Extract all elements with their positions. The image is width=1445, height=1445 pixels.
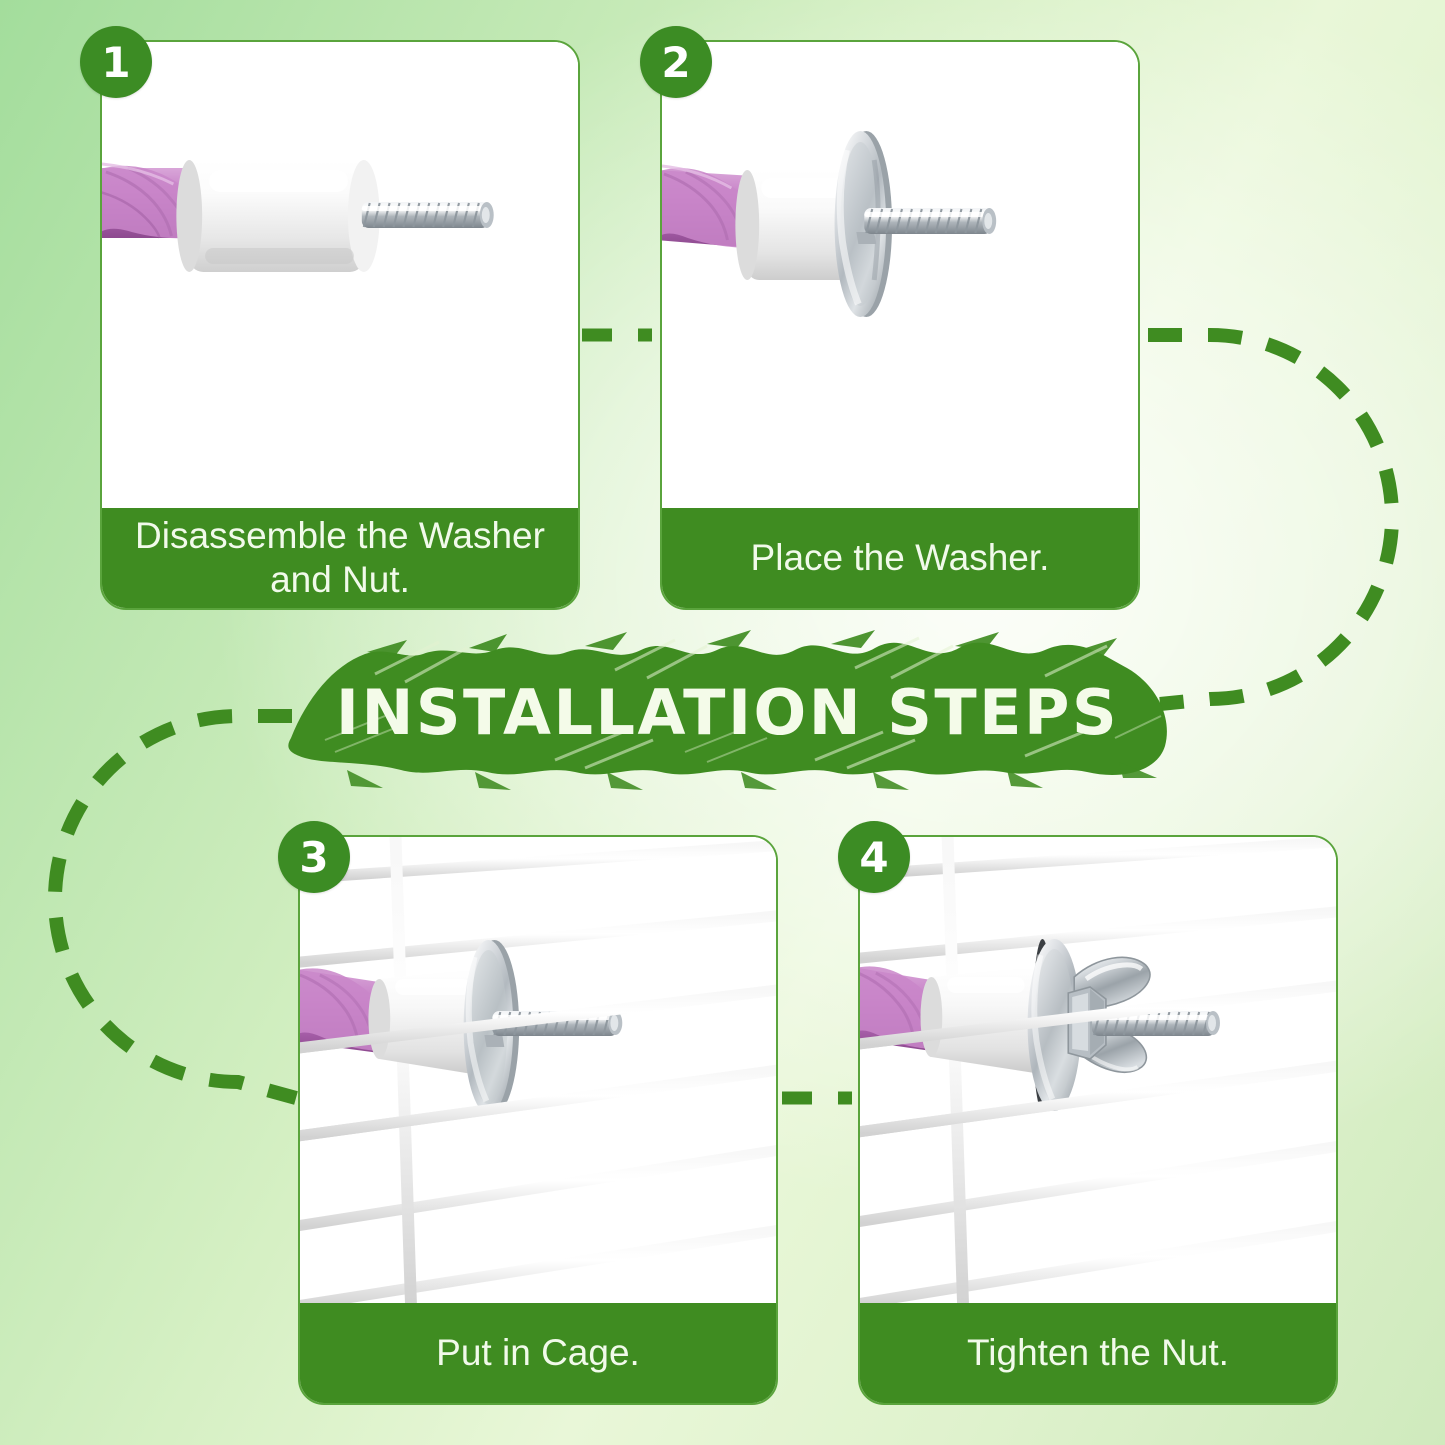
perch-washer-illustration (662, 42, 1138, 512)
step-badge-3: 3 (278, 821, 350, 893)
white-cap-graphic (368, 969, 478, 1075)
perch-bolt-illustration (102, 42, 578, 512)
step-card-2: Place the Washer. (660, 40, 1140, 610)
step-2-caption: Place the Washer. (662, 508, 1138, 608)
wing-nut-tightened-illustration (860, 837, 1336, 1307)
step-badge-1: 1 (80, 26, 152, 98)
step-1-photo (102, 42, 578, 512)
step-badge-2: 2 (640, 26, 712, 98)
step-4-caption: Tighten the Nut. (860, 1303, 1336, 1403)
white-cap-graphic (176, 160, 379, 272)
banner-title: INSTALLATION STEPS (255, 676, 1200, 749)
step-card-1: Disassemble the Washer and Nut. (100, 40, 580, 610)
step-3-photo (300, 837, 776, 1307)
step-badge-4: 4 (838, 821, 910, 893)
banner: INSTALLATION STEPS (255, 620, 1200, 798)
step-card-3: Put in Cage. (298, 835, 778, 1405)
infographic-canvas: Disassemble the Washer and Nut. 1 (0, 0, 1445, 1445)
threaded-bolt-graphic (362, 202, 494, 228)
perch-in-cage-illustration (300, 837, 776, 1307)
step-card-4: Tighten the Nut. (858, 835, 1338, 1405)
step-1-caption: Disassemble the Washer and Nut. (102, 508, 578, 608)
step-4-photo (860, 837, 1336, 1307)
step-3-caption: Put in Cage. (300, 1303, 776, 1403)
step-2-photo (662, 42, 1138, 512)
